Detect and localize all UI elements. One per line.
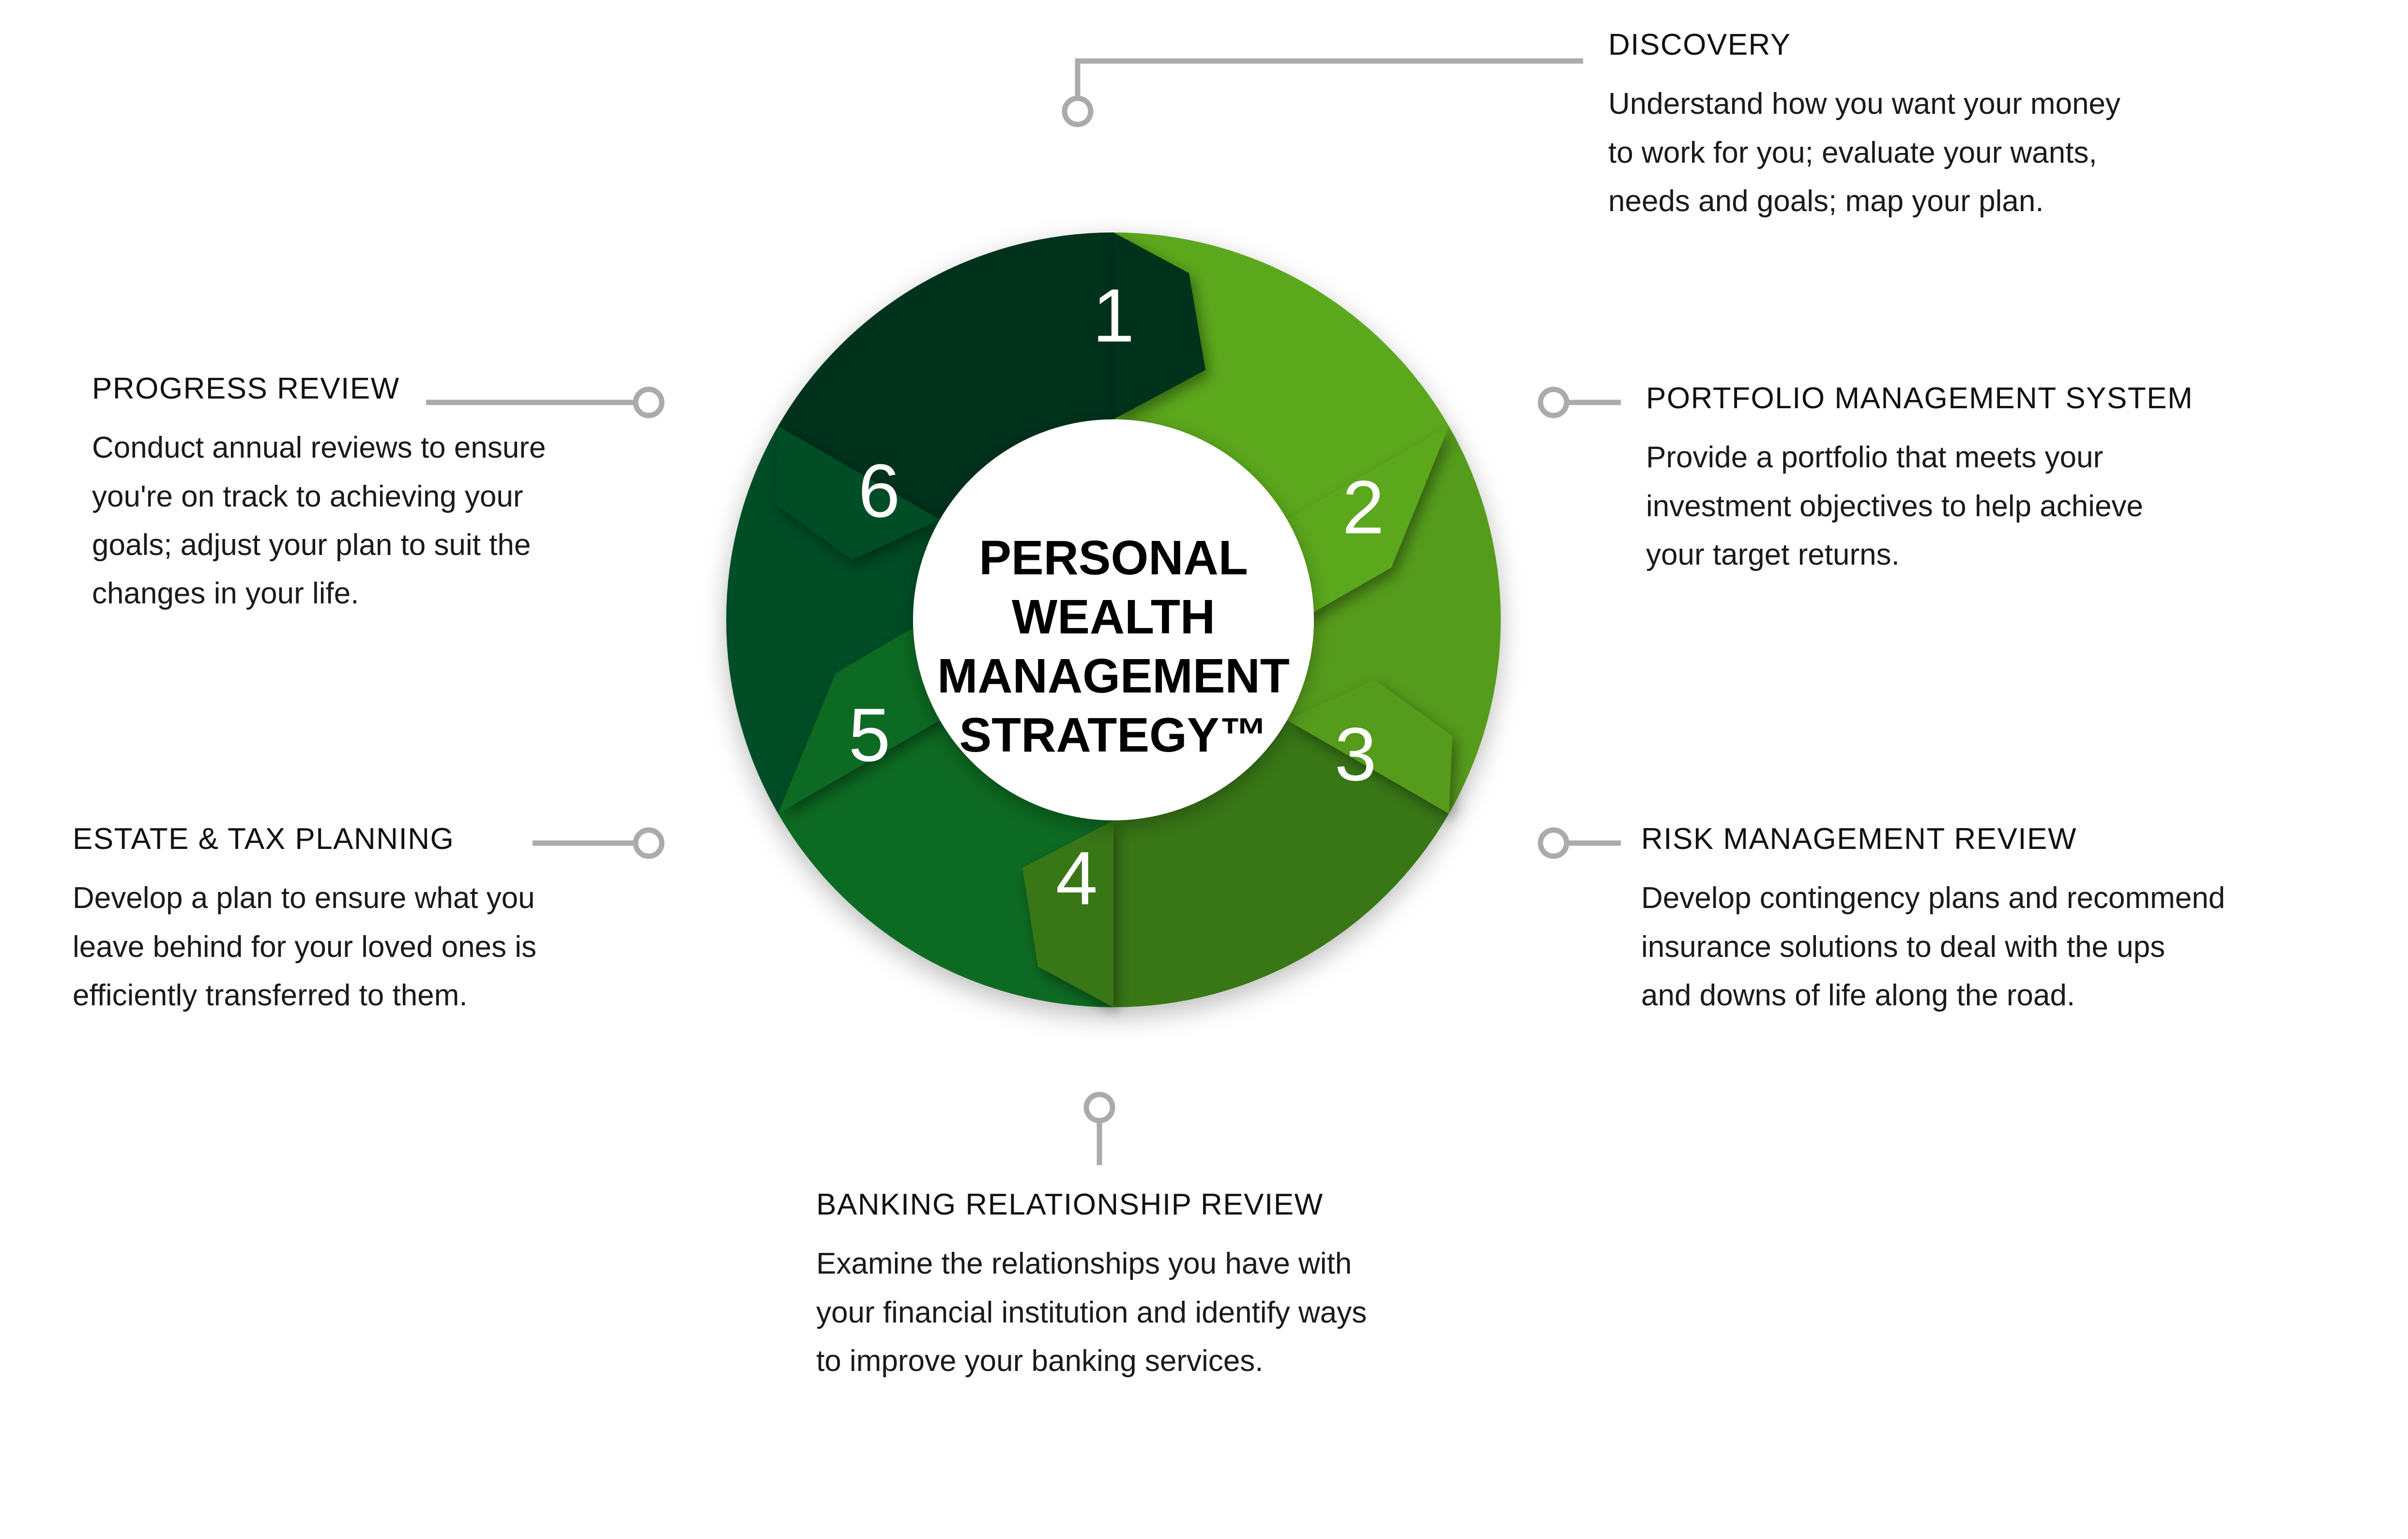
- callout-line: investment objectives to help achieve: [1646, 482, 2392, 531]
- callout-portfolio-title: PORTFOLIO MANAGEMENT SYSTEM: [1646, 383, 2392, 414]
- wheel-number-2: 2: [1342, 465, 1385, 550]
- wheel-number-1: 1: [1093, 274, 1135, 358]
- wheel-number-3: 3: [1335, 712, 1377, 797]
- callout-risk-title: RISK MANAGEMENT REVIEW: [1641, 823, 2396, 855]
- infographic-canvas: 1 2 3 4 5 6 PERSONAL WEALTH MANAGEMENT S…: [0, 0, 2408, 1539]
- center-title-line-3: MANAGEMENT: [937, 649, 1290, 703]
- callout-line: goals; adjust your plan to suit the: [92, 521, 654, 569]
- callout-line: Develop contingency plans and recommend: [1641, 874, 2396, 923]
- callout-line: needs and goals; map your plan.: [1608, 177, 2363, 226]
- callout-portfolio-body: Provide a portfolio that meets your inve…: [1646, 433, 2392, 579]
- callout-line: Understand how you want your money: [1608, 80, 2363, 128]
- wheel-number-5: 5: [849, 693, 891, 777]
- wheel-number-4: 4: [1056, 836, 1098, 921]
- callout-risk-management-review: RISK MANAGEMENT REVIEW Develop contingen…: [1641, 823, 2396, 1020]
- callout-estate-title: ESTATE & TAX PLANNING: [73, 823, 644, 855]
- callout-line: efficiently transferred to them.: [73, 971, 644, 1020]
- center-title-line-2: WEALTH: [1012, 590, 1215, 644]
- callout-estate-body: Develop a plan to ensure what you leave …: [73, 874, 644, 1020]
- callout-progress-title: PROGRESS REVIEW: [92, 373, 654, 404]
- callout-line: to improve your banking services.: [816, 1337, 1494, 1385]
- callout-line: changes in your life.: [92, 569, 654, 618]
- callout-line: leave behind for your loved ones is: [73, 923, 644, 971]
- callout-banking-title: BANKING RELATIONSHIP REVIEW: [816, 1189, 1494, 1220]
- callout-line: Provide a portfolio that meets your: [1646, 433, 2392, 482]
- callout-discovery: DISCOVERY Understand how you want your m…: [1608, 29, 2363, 226]
- callout-progress-body: Conduct annual reviews to ensure you're …: [92, 424, 654, 618]
- callout-banking-body: Examine the relationships you have with …: [816, 1240, 1494, 1385]
- center-title-line-1: PERSONAL: [979, 531, 1248, 585]
- callout-discovery-body: Understand how you want your money to wo…: [1608, 80, 2363, 226]
- callout-portfolio-management-system: PORTFOLIO MANAGEMENT SYSTEM Provide a po…: [1646, 383, 2392, 579]
- callout-risk-body: Develop contingency plans and recommend …: [1641, 874, 2396, 1020]
- callout-line: you're on track to achieving your: [92, 473, 654, 521]
- callout-line: Develop a plan to ensure what you: [73, 874, 644, 923]
- callout-line: Conduct annual reviews to ensure: [92, 424, 654, 472]
- connector-path-discovery: [1078, 61, 1583, 98]
- callout-line: and downs of life along the road.: [1641, 971, 2396, 1020]
- callout-progress-review: PROGRESS REVIEW Conduct annual reviews t…: [92, 373, 654, 618]
- connector-node-discovery: [1065, 98, 1091, 124]
- callout-line: Examine the relationships you have with: [816, 1240, 1494, 1288]
- center-title-line-4: STRATEGY™: [959, 708, 1267, 762]
- callout-estate-tax-planning: ESTATE & TAX PLANNING Develop a plan to …: [73, 823, 644, 1020]
- callout-line: insurance solutions to deal with the ups: [1641, 923, 2396, 971]
- callout-banking-relationship-review: BANKING RELATIONSHIP REVIEW Examine the …: [816, 1189, 1494, 1385]
- cycle-donut-chart: 1 2 3 4 5 6 PERSONAL WEALTH MANAGEMENT S…: [639, 145, 1588, 1094]
- callout-line: your target returns.: [1646, 531, 2392, 579]
- callout-line: to work for you; evaluate your wants,: [1608, 129, 2363, 177]
- callout-discovery-title: DISCOVERY: [1608, 29, 2363, 61]
- wheel-number-6: 6: [858, 449, 900, 533]
- connector-node-banking: [1086, 1094, 1113, 1121]
- callout-line: your financial institution and identify …: [816, 1289, 1494, 1337]
